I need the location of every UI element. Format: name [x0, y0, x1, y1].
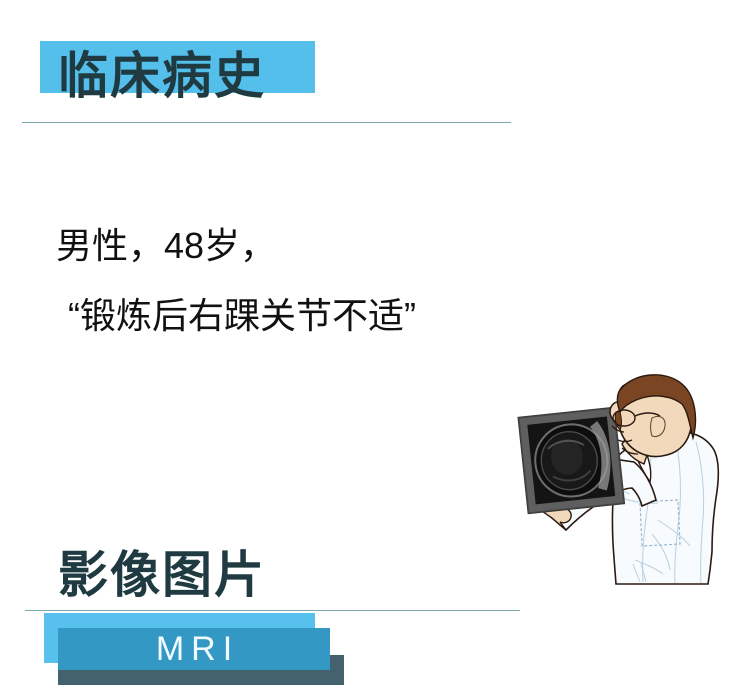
slide-canvas: 临床病史 男性，48岁， “锻炼后右踝关节不适” 影像图片 MRI — [0, 0, 751, 696]
mri-modality-label: MRI — [58, 628, 330, 670]
clinical-history-heading: 临床病史 — [58, 51, 266, 101]
chief-complaint-line: “锻炼后右踝关节不适” — [68, 298, 416, 334]
doctor-illustration-svg — [500, 368, 751, 628]
patient-demographics-line: 男性，48岁， — [56, 228, 276, 264]
doctor-reading-mri-illustration — [500, 368, 751, 628]
mri-label-block: MRI — [44, 613, 334, 688]
imaging-section-divider — [25, 610, 520, 611]
mri-film — [519, 408, 625, 514]
imaging-section-heading: 影像图片 — [58, 550, 266, 600]
clinical-history-divider — [22, 122, 511, 123]
